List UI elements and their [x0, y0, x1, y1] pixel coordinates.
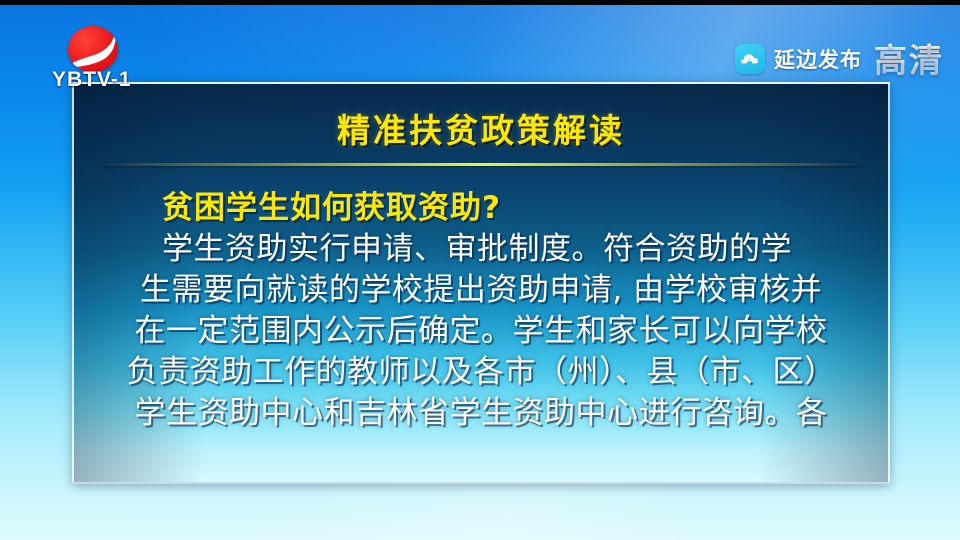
- app-name: 延边发布: [774, 44, 862, 74]
- body-line: 在一定范围内公示后确定。学生和家长可以向学校: [84, 311, 878, 352]
- body-line: 学生资助实行申请、审批制度。符合资助的学: [84, 229, 878, 270]
- broadcast-screen: YBTV-1 延边发布 高清 精准扶贫政策解读 贫困学生如何获取资助? 学生资助…: [0, 0, 960, 540]
- app-badge: 延边发布: [735, 44, 862, 74]
- body-line: 生需要向就读的学校提出资助申请, 由学校审核并: [84, 270, 878, 311]
- content-panel: 精准扶贫政策解读 贫困学生如何获取资助? 学生资助实行申请、审批制度。符合资助的…: [72, 82, 890, 484]
- question-line: 贫困学生如何获取资助?: [84, 188, 878, 229]
- branding-row: 延边发布 高清: [735, 34, 944, 84]
- title-divider: [101, 163, 861, 166]
- body-line: 负责资助工作的教师以及各市（州）、县（市、区）: [84, 352, 878, 393]
- cloud-mountain-icon: [735, 44, 765, 74]
- body-line: 学生资助中心和吉林省学生资助中心进行咨询。各: [84, 393, 878, 434]
- quality-tag: 高清: [874, 34, 944, 84]
- channel-bug: YBTV-1: [52, 26, 172, 96]
- page-title: 精准扶贫政策解读: [74, 104, 888, 152]
- policy-text-block: 贫困学生如何获取资助? 学生资助实行申请、审批制度。符合资助的学 生需要向就读的…: [74, 188, 888, 434]
- ybtv-circle-swoosh-logo-icon: [68, 26, 118, 72]
- letterbox-bar-top: [0, 0, 960, 5]
- channel-name: YBTV-1: [52, 68, 132, 92]
